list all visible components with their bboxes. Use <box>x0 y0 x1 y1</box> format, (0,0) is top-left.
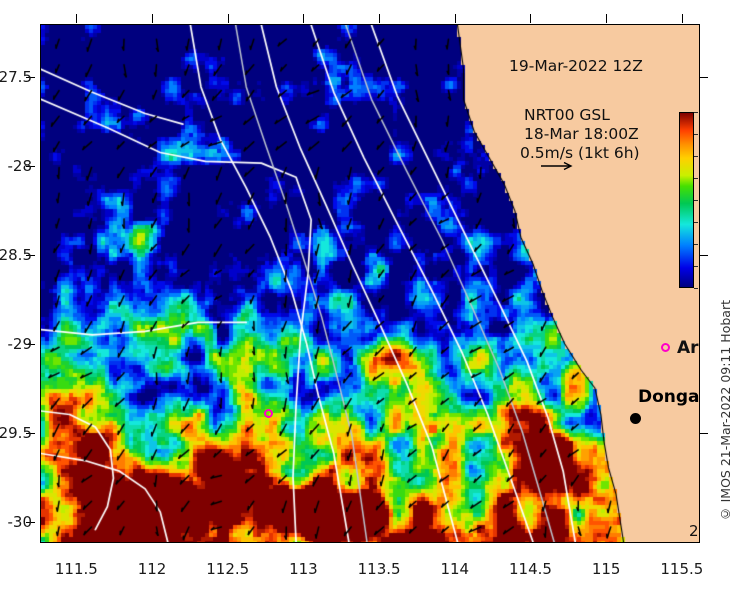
y-tick-right <box>700 255 708 256</box>
sst-age-heatmap <box>41 25 699 542</box>
y-tick-label: -30 <box>8 513 33 531</box>
y-tick-right <box>700 433 708 434</box>
x-tick <box>152 14 153 23</box>
annotation-valid-time: 19-Mar-2022 12Z <box>509 57 643 75</box>
colorbar-tick <box>694 134 698 135</box>
dongara-city-label: Dongara <box>638 387 700 407</box>
x-tick <box>455 14 456 23</box>
x-tick <box>76 14 77 23</box>
colorbar <box>679 112 694 288</box>
argo-float-marker-icon <box>264 409 273 418</box>
vector-key-arrow-icon <box>541 161 575 171</box>
y-tick-label: -27.5 <box>0 68 32 86</box>
colorbar-tick <box>694 266 698 267</box>
bathymetry-depth-key: 200m 1000m <box>689 523 700 543</box>
x-tick <box>379 14 380 23</box>
depth-200m-label: 200m <box>689 523 700 540</box>
colorbar-tick <box>694 222 698 223</box>
y-tick-label: -29 <box>8 335 33 353</box>
colorbar-tick <box>694 156 698 157</box>
x-tick <box>606 14 607 23</box>
y-tick-label: -28.5 <box>0 246 32 264</box>
x-tick <box>682 14 683 23</box>
colorbar-tick <box>694 244 698 245</box>
y-tick-label: -29.5 <box>0 424 32 442</box>
x-tick-label: 113 <box>289 560 318 578</box>
x-tick <box>303 14 304 23</box>
x-tick-label: 114 <box>440 560 469 578</box>
x-tick-label: 113.5 <box>358 560 401 578</box>
colorbar-tick <box>694 200 698 201</box>
x-tick-label: 114.5 <box>509 560 552 578</box>
annotation-product: NRT00 GSL <box>524 106 610 124</box>
x-tick <box>228 14 229 23</box>
y-tick-label: -28 <box>8 157 33 175</box>
x-tick-label: 112 <box>138 560 167 578</box>
argo-legend-label: Argo <box>677 338 700 358</box>
annotation-model-time: 18-Mar 18:00Z <box>524 125 639 143</box>
x-tick-label: 112.5 <box>206 560 249 578</box>
x-tick <box>530 14 531 23</box>
colorbar-tick <box>694 112 698 113</box>
colorbar-tick <box>694 288 698 289</box>
depth-1000m-label: 1000m <box>689 540 700 543</box>
argo-legend-marker-icon <box>661 343 670 352</box>
x-tick-label: 115.5 <box>660 560 703 578</box>
y-tick-right <box>700 77 708 78</box>
annotation-vector-key: 0.5m/s (1kt 6h) <box>520 144 640 162</box>
x-tick-label: 115 <box>592 560 621 578</box>
dongara-city-marker-icon <box>630 413 641 424</box>
colorbar-tick <box>694 178 698 179</box>
x-tick-label: 111.5 <box>55 560 98 578</box>
map-plot-area: 19-Mar-2022 12Z NRT00 GSL 18-Mar 18:00Z … <box>40 24 700 543</box>
copyright-text: © IMOS 21-Mar-2022 09:11 Hobart <box>718 300 733 521</box>
